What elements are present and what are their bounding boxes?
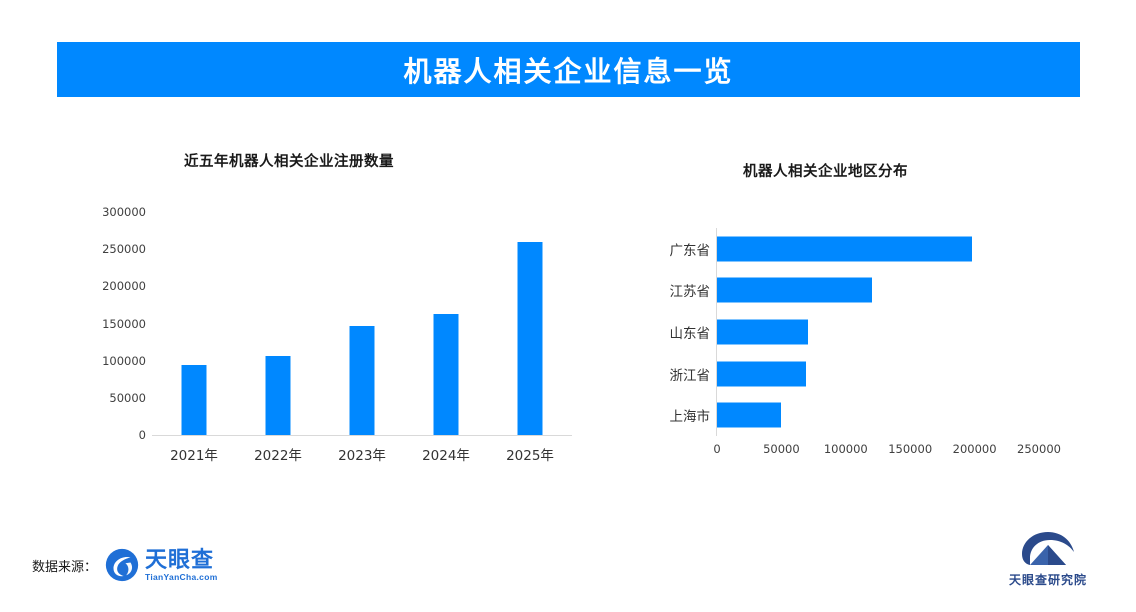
- bar-slot: [404, 212, 488, 435]
- infographic-page: 机器人相关企业信息一览 近五年机器人相关企业注册数量 0500001000001…: [0, 0, 1136, 612]
- bar-slot: [236, 212, 320, 435]
- bar-slot: [488, 212, 572, 435]
- category-axis-label: 广东省: [670, 239, 711, 259]
- x-axis-tick-label: 250000: [1017, 442, 1061, 456]
- bar-slot: [717, 353, 1039, 395]
- x-axis-tick-labels: 050000100000150000200000250000: [716, 442, 1046, 464]
- tianyancha-wordmark: 天眼查 TianYanCha.com: [145, 549, 218, 582]
- category-axis-label: 上海市: [670, 405, 711, 425]
- bar-slot: [152, 212, 236, 435]
- y-axis-tick-labels: 050000100000150000200000250000300000: [80, 212, 146, 435]
- y-axis-tick-label: 250000: [102, 242, 146, 256]
- x-axis-tick-label: 2024年: [404, 444, 488, 464]
- bar: [717, 236, 972, 261]
- bar: [434, 314, 459, 435]
- chart-panel-registrations: 近五年机器人相关企业注册数量 0500001000001500002000002…: [80, 150, 600, 500]
- y-axis-tick-label: 0: [139, 428, 146, 442]
- institute-arch-icon: [1017, 528, 1079, 568]
- x-axis-tick-label: 2025年: [488, 444, 572, 464]
- x-axis-tick-label: 2022年: [236, 444, 320, 464]
- x-axis-tick-label: 0: [713, 442, 720, 456]
- bar-series: [152, 212, 572, 435]
- x-axis-tick-labels: 2021年2022年2023年2024年2025年: [152, 444, 572, 468]
- y-axis-tick-label: 100000: [102, 354, 146, 368]
- institute-name: 天眼查研究院: [1000, 571, 1096, 588]
- bar: [350, 326, 375, 435]
- x-axis-tick-label: 150000: [888, 442, 932, 456]
- bar-slot: [320, 212, 404, 435]
- bar-series: [717, 228, 1039, 436]
- x-axis-tick-label: 100000: [824, 442, 868, 456]
- chart-panel-regions: 机器人相关企业地区分布 广东省江苏省山东省浙江省上海市 050000100000…: [620, 150, 1080, 500]
- x-axis-tick-label: 50000: [763, 442, 800, 456]
- data-source: 数据来源： 天眼查 TianYanCha.com: [32, 548, 218, 582]
- y-axis-tick-label: 50000: [109, 391, 146, 405]
- bar-slot: [717, 270, 1039, 312]
- bar: [717, 278, 872, 303]
- y-axis-tick-label: 200000: [102, 279, 146, 293]
- x-axis-line: [152, 435, 572, 436]
- category-axis-label: 山东省: [670, 322, 711, 342]
- x-axis-tick-label: 2023年: [320, 444, 404, 464]
- category-axis-label: 江苏省: [670, 280, 711, 300]
- y-axis-tick-label: 300000: [102, 205, 146, 219]
- horizontal-bar-chart: 广东省江苏省山东省浙江省上海市 050000100000150000200000…: [620, 228, 1040, 478]
- bar: [266, 356, 291, 435]
- category-axis-label: 浙江省: [670, 364, 711, 384]
- institute-logo: 天眼查研究院: [1000, 528, 1096, 588]
- tianyancha-name-cn: 天眼查: [145, 549, 218, 571]
- bar-slot: [717, 228, 1039, 270]
- bar: [518, 242, 543, 435]
- category-axis-labels: 广东省江苏省山东省浙江省上海市: [620, 228, 710, 436]
- bar: [717, 319, 808, 344]
- tianyancha-name-en: TianYanCha.com: [145, 573, 218, 582]
- y-axis-tick-label: 150000: [102, 317, 146, 331]
- x-axis-tick-label: 200000: [953, 442, 997, 456]
- bar: [717, 361, 806, 386]
- data-source-label: 数据来源：: [32, 556, 97, 575]
- bar: [717, 403, 781, 428]
- x-axis-tick-label: 2021年: [152, 444, 236, 464]
- tianyancha-logo: 天眼查 TianYanCha.com: [105, 548, 218, 582]
- chart-title-registrations: 近五年机器人相关企业注册数量: [184, 150, 394, 171]
- chart-title-regions: 机器人相关企业地区分布: [743, 160, 908, 181]
- tianyancha-mark-icon: [105, 548, 139, 582]
- bar: [182, 365, 207, 435]
- vertical-bar-chart: 050000100000150000200000250000300000 202…: [80, 212, 580, 462]
- bar-slot: [717, 311, 1039, 353]
- bar-slot: [717, 394, 1039, 436]
- header-banner: 机器人相关企业信息一览: [57, 42, 1080, 97]
- page-title: 机器人相关企业信息一览: [403, 50, 733, 90]
